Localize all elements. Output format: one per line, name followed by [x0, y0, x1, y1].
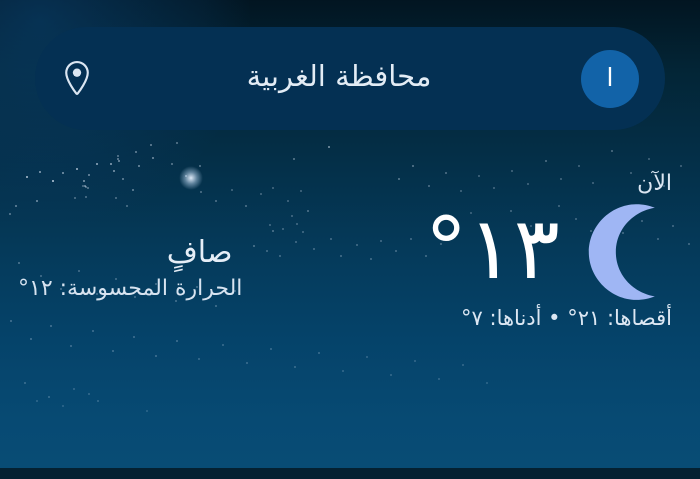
bottom-strip — [0, 468, 700, 479]
location-name-label[interactable]: محافظة الغربية — [97, 59, 581, 99]
high-low-label: أقصاها: ٢١° • أدناها: ٧° — [256, 306, 676, 330]
crescent-moon-icon — [568, 198, 672, 302]
feels-like-label: الحرارة المحسوسة: ١٢° — [18, 276, 242, 302]
location-search-bar[interactable]: محافظة الغربية ا — [35, 27, 665, 130]
now-label: الآن — [256, 172, 672, 196]
condition-panel: صافٍ الحرارة المحسوسة: ١٢° — [18, 234, 242, 302]
location-pin-icon[interactable] — [57, 57, 97, 101]
weather-app-screen: محافظة الغربية ا الآن ١٣° أقصاها: ٢١° • … — [0, 0, 700, 479]
avatar-initial: ا — [607, 65, 614, 90]
current-conditions-panel: الآن ١٣° أقصاها: ٢١° • أدناها: ٧° — [256, 172, 676, 330]
temperature-row: ١٣° — [256, 198, 676, 302]
avatar[interactable]: ا — [581, 50, 639, 108]
temperature-value: ١٣° — [256, 209, 560, 291]
condition-label: صافٍ — [18, 234, 242, 272]
